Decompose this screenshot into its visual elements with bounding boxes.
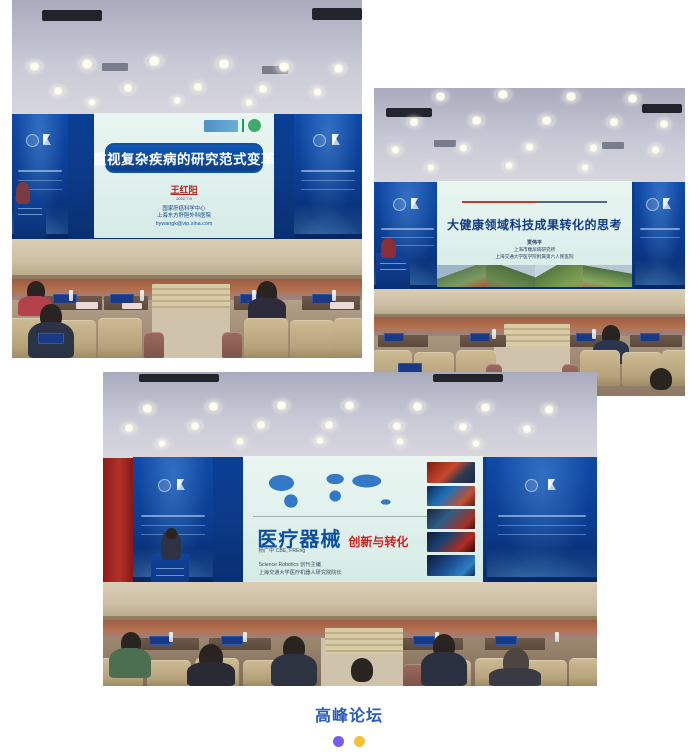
attendee-head <box>650 368 672 390</box>
lecture-hall-scene-1: 重视复杂疾病的研究范式变革 王红阳 2022.7.9 国家肝癌科学中心 上海东方… <box>12 0 362 358</box>
ceiling-light <box>255 421 267 429</box>
carousel-dot-1[interactable] <box>333 736 344 747</box>
campus-photo <box>583 265 632 287</box>
photo-1[interactable]: 重视复杂疾病的研究范式变革 王红阳 2022.7.9 国家肝癌科学中心 上海东方… <box>12 0 362 358</box>
ceiling-light <box>521 425 533 433</box>
audience-seat <box>147 660 191 686</box>
led-side-panel-right-3 <box>487 457 597 582</box>
ceiling-beam <box>42 10 102 21</box>
ceiling-light <box>192 83 204 91</box>
carousel-dot-2[interactable] <box>354 736 365 747</box>
stage-curtain-left <box>103 458 135 588</box>
water-bottle <box>332 290 336 301</box>
stage-floor-1 <box>12 239 362 277</box>
ceiling-light <box>471 440 481 447</box>
name-placard <box>221 636 243 645</box>
slide-date-1: 2022.7.9 <box>94 196 274 201</box>
ceiling-2 <box>374 88 685 186</box>
ceiling-light <box>257 85 269 93</box>
name-placard <box>495 636 517 645</box>
slide-title-sub-3: 创新与转化 <box>348 533 408 550</box>
ceiling-light <box>540 116 553 125</box>
ceiling-light <box>588 144 599 152</box>
podium-2 <box>376 253 410 293</box>
led-side-panel-right-1 <box>294 114 362 239</box>
ceiling-light <box>172 97 182 104</box>
ceiling-light <box>332 64 345 73</box>
ceiling-light <box>217 59 231 69</box>
ceiling-light <box>315 437 325 444</box>
ceiling-light <box>434 92 447 101</box>
stage-steps-3 <box>325 628 403 654</box>
led-wave-graphic <box>294 197 362 235</box>
ceiling-light <box>312 88 323 96</box>
water-bottle <box>592 329 596 339</box>
ceiling-light <box>626 94 639 103</box>
presentation-slide-3: 医疗器械 创新与转化 杨广中 CBE, FREng Science Roboti… <box>243 456 483 582</box>
ceiling-light <box>123 424 135 432</box>
water-bottle <box>243 632 247 642</box>
attendee-head <box>351 658 373 682</box>
stage-steps-1 <box>152 284 230 308</box>
led-wave-graphic <box>487 540 597 578</box>
carousel-pager[interactable] <box>0 736 698 747</box>
ceiling-light <box>411 402 424 411</box>
ceiling-light <box>479 403 492 412</box>
ceiling-light <box>658 120 670 128</box>
slide-title-1: 重视复杂疾病的研究范式变革 <box>94 148 274 168</box>
slide-title-box-1: 重视复杂疾病的研究范式变革 <box>105 143 263 173</box>
presenter-1 <box>16 182 30 204</box>
slide-photo-strip-2 <box>437 265 632 287</box>
ceiling-light <box>28 62 41 71</box>
ceiling-light <box>408 118 420 126</box>
ceiling-light <box>426 164 436 171</box>
audience-seat <box>290 320 334 358</box>
thumbnail-image <box>427 486 475 506</box>
ceiling-light <box>650 146 661 154</box>
name-placard <box>149 636 171 645</box>
slide-speaker-3: 杨广中 CBE, FREng <box>259 547 306 554</box>
presenter-head <box>166 528 177 539</box>
water-bottle <box>140 290 144 301</box>
role-line-1: Science Robotics 创刊主编 <box>259 561 342 569</box>
water-bottle <box>169 632 173 642</box>
slide-role-3: Science Robotics 创刊主编 上海交通大学医疗机器人研究院院长 <box>259 561 342 578</box>
audience-seat <box>144 332 164 358</box>
world-map-graphic <box>253 464 411 514</box>
stage-steps-2 <box>504 324 570 346</box>
ceiling-light <box>323 421 335 429</box>
campus-photo <box>437 265 486 287</box>
slide-thumbnail-strip-3 <box>427 462 475 575</box>
gallery-caption: 高峰论坛 <box>0 702 698 726</box>
name-placard <box>53 294 77 304</box>
slide-affiliation-2: 上海市糖尿病研究所 上海交通大学医学院附属第六人民医院 <box>437 247 632 261</box>
desk-paper <box>76 302 98 309</box>
stage-floor-3 <box>103 582 597 618</box>
desk-paper <box>122 303 142 309</box>
ceiling-light <box>157 440 167 447</box>
audience-seat <box>244 318 288 358</box>
campus-photo <box>535 265 584 287</box>
ceiling-light <box>147 56 162 66</box>
ceiling-vent <box>434 140 456 147</box>
affiliation-line-1: 上海市糖尿病研究所 <box>437 247 632 254</box>
ceiling-light <box>207 402 220 411</box>
slide-rule-2 <box>462 201 606 203</box>
water-bottle <box>555 632 559 642</box>
stage-floor-2 <box>374 289 685 316</box>
ceiling-light <box>457 423 469 431</box>
ceiling-light <box>458 144 469 152</box>
ceiling-light <box>277 62 291 72</box>
ceiling-light <box>580 164 590 171</box>
ceiling-light <box>395 438 405 445</box>
conference-emblem-icon <box>525 479 538 492</box>
audience-seat <box>222 332 242 358</box>
affiliation-line-2: 上海交通大学医学院附属第六人民医院 <box>437 254 632 261</box>
thumbnail-image <box>427 509 475 529</box>
ceiling-light <box>244 99 254 106</box>
ceiling-light <box>235 438 245 445</box>
desk-paper <box>330 302 354 309</box>
attendee-body <box>109 648 151 678</box>
name-placard <box>470 333 490 342</box>
campus-photo <box>486 265 535 287</box>
presenter-2 <box>381 238 396 258</box>
presentation-slide-2: 大健康领域科技成果转化的思考 贾伟平 上海市糖尿病研究所 上海交通大学医学院附属… <box>437 181 632 287</box>
slide-logo-1 <box>204 119 261 132</box>
thumbnail-image <box>427 555 475 575</box>
ceiling-light <box>52 87 64 95</box>
attendee-body <box>248 298 286 320</box>
lecture-hall-scene-3: 医疗器械 创新与转化 杨广中 CBE, FREng Science Roboti… <box>103 372 597 686</box>
ceiling-light <box>543 405 555 414</box>
ceiling-vent <box>602 142 624 149</box>
ceiling-light <box>80 59 94 69</box>
bird-logo-icon <box>177 479 188 490</box>
name-placard <box>384 333 404 342</box>
slide-title-2: 大健康领域科技成果转化的思考 <box>437 216 632 233</box>
ceiling-light <box>390 146 401 154</box>
ceiling-light <box>496 90 510 99</box>
attendee-body <box>489 668 541 686</box>
thumbnail-image <box>427 532 475 552</box>
ceiling-vent <box>102 63 128 71</box>
ceiling-beam <box>386 108 432 117</box>
name-placard <box>640 333 660 342</box>
ceiling-light <box>524 143 535 151</box>
ceiling-light <box>189 422 201 430</box>
bird-logo-icon <box>43 134 54 145</box>
ceiling-light <box>608 118 620 126</box>
audience-seat <box>98 318 142 358</box>
ceiling-light <box>343 401 356 410</box>
bird-logo-icon <box>411 198 422 209</box>
conference-emblem-icon <box>646 198 659 211</box>
ceiling-beam <box>642 104 682 113</box>
affiliation-line-2: 上海东方肝胆外科医院 <box>94 213 274 221</box>
slide-speaker-1: 王红阳 <box>94 183 274 196</box>
ceiling-light <box>470 116 483 125</box>
presentation-slide-1: 重视复杂疾病的研究范式变革 王红阳 2022.7.9 国家肝癌科学中心 上海东方… <box>94 113 274 238</box>
ceiling-light <box>122 84 134 92</box>
attendee-body <box>187 662 235 686</box>
conference-emblem-icon <box>313 134 326 147</box>
lecture-hall-scene-2: 大健康领域科技成果转化的思考 贾伟平 上海市糖尿病研究所 上海交通大学医学院附属… <box>374 88 685 396</box>
ceiling-light <box>504 162 514 169</box>
audience-seat <box>334 318 362 358</box>
ceiling-light <box>564 92 578 101</box>
slide-speaker-2: 贾伟平 <box>437 239 632 246</box>
conference-emblem-icon <box>158 479 171 492</box>
ceiling-3 <box>103 372 597 458</box>
attendee-body <box>421 652 467 686</box>
photo-2[interactable]: 大健康领域科技成果转化的思考 贾伟平 上海市糖尿病研究所 上海交通大学医学院附属… <box>374 88 685 396</box>
attendee-body <box>271 654 317 686</box>
bird-logo-icon <box>663 198 674 209</box>
ceiling-light <box>391 422 403 430</box>
conference-emblem-icon <box>393 198 406 211</box>
led-wave-graphic <box>635 253 685 285</box>
speaker-email-1: hywangk@vip.sina.com <box>94 221 274 229</box>
bird-logo-icon <box>332 134 343 145</box>
ceiling-light <box>275 401 288 410</box>
role-line-2: 上海交通大学医疗机器人研究院院长 <box>259 569 342 577</box>
photo-3[interactable]: 医疗器械 创新与转化 杨广中 CBE, FREng Science Roboti… <box>103 372 597 686</box>
bird-logo-icon <box>548 479 559 490</box>
name-placard <box>413 636 435 645</box>
ceiling-beam <box>312 8 362 20</box>
thumbnail-image <box>427 462 475 482</box>
audience-seat <box>569 658 597 686</box>
led-side-panel-right-2 <box>635 182 685 289</box>
ceiling-light <box>87 99 97 106</box>
slide-affiliation-1: 国家肝癌科学中心 上海东方肝胆外科医院 hywangk@vip.sina.com <box>94 206 274 229</box>
ceiling-beam <box>433 374 503 382</box>
ceiling-light <box>141 404 154 413</box>
name-placard <box>38 333 64 344</box>
water-bottle <box>492 329 496 339</box>
ceiling-beam <box>139 374 219 382</box>
conference-emblem-icon <box>26 134 39 147</box>
water-bottle <box>69 290 73 301</box>
